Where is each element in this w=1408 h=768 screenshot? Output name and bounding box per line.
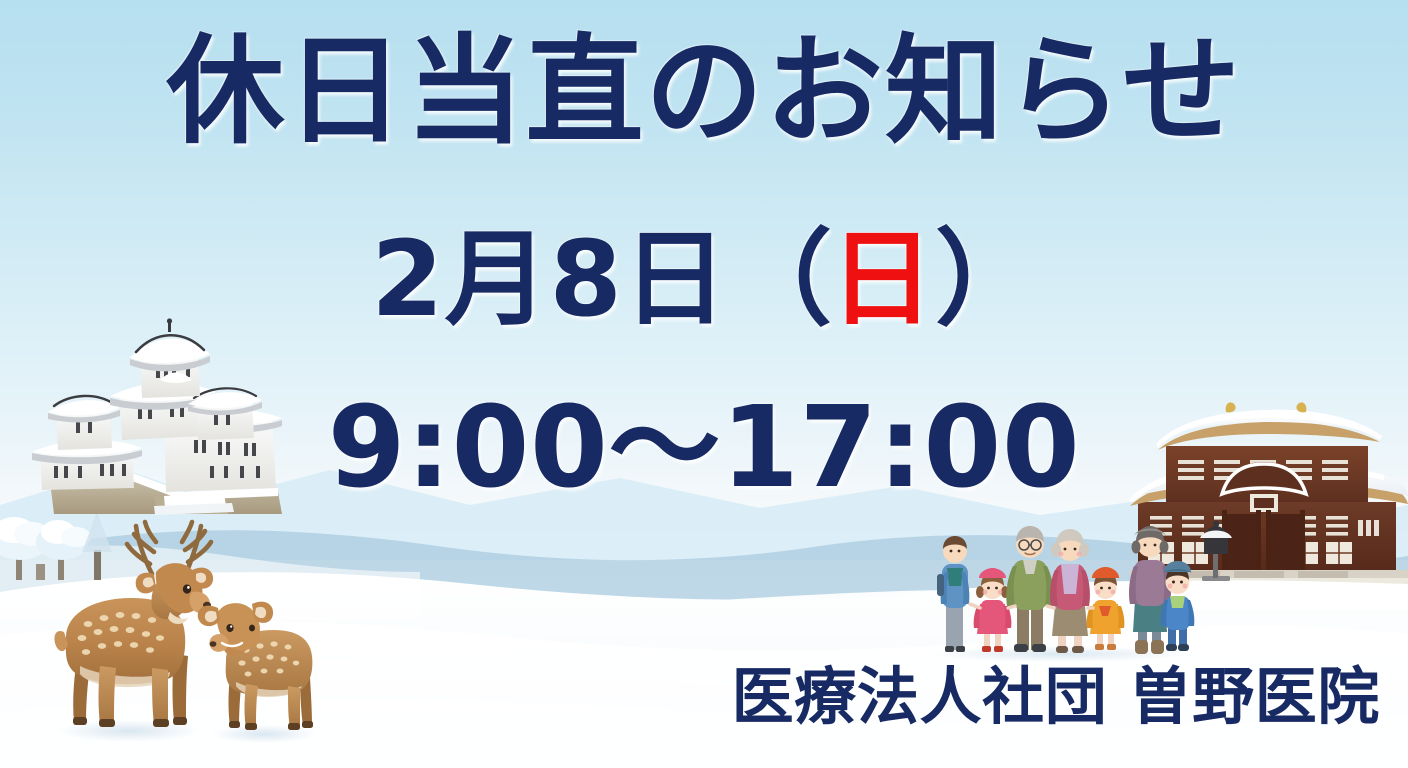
figure-girl-pink [974, 568, 1012, 652]
figure-father [937, 536, 969, 652]
family-group-illustration [925, 520, 1195, 660]
clinic-name: 医療法人社団 曽野医院 [732, 666, 1380, 728]
figure-grandpa [1006, 526, 1054, 652]
nara-deer-illustration [24, 516, 344, 746]
snow-castle-illustration [14, 300, 314, 530]
figure-mother [1129, 526, 1171, 654]
figure-grandma [1050, 529, 1090, 653]
holiday-duty-notice-poster: 休日当直のお知らせ 2月8日（日） 9:00〜17:00 医療法人社団 曽野医院 [0, 0, 1408, 768]
